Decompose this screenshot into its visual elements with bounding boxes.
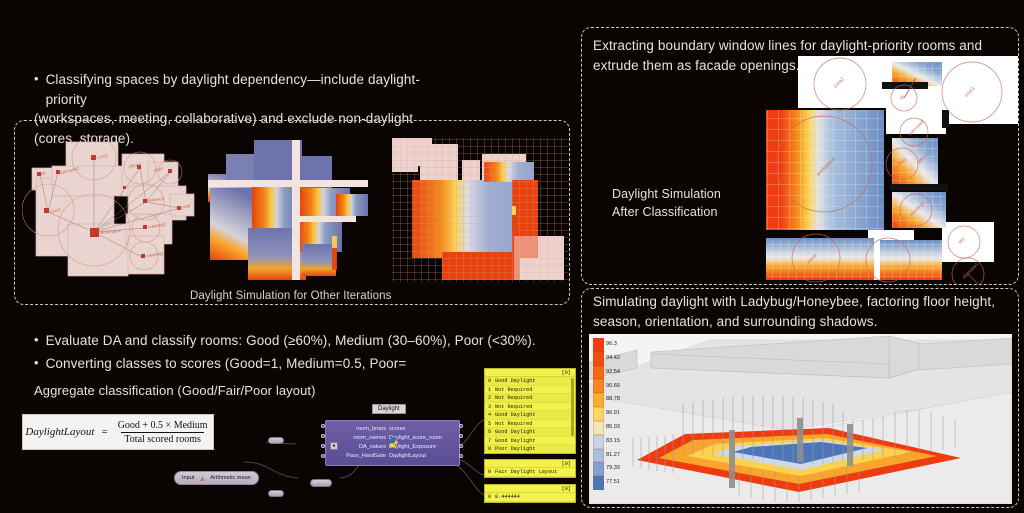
bullet-1-line-1: Classifying spaces by daylight dependenc… (46, 70, 454, 109)
legend-swatch (593, 449, 604, 463)
floorplan-after-classification[interactable]: core2 core1 lift staircase2 office offic… (756, 52, 1018, 284)
legend-swatch (593, 435, 604, 449)
legend-value: 83.15 (606, 435, 620, 449)
bullet-marker-3: • (34, 354, 39, 373)
classification-panel-header: [9] (485, 369, 575, 377)
legend-swatch (593, 338, 604, 352)
score-panel-header: [0] (485, 485, 575, 493)
plan-label-lift: lift (40, 171, 45, 177)
sim-label-line-1: Daylight Simulation (612, 185, 721, 203)
legend-swatch (593, 366, 604, 380)
layout-output-panel[interactable]: [0] 0Fair Daylight Layout (484, 459, 576, 478)
plans-caption: Daylight Simulation for Other Iterations (190, 288, 392, 305)
node-input-2: DA_values (334, 443, 386, 452)
daylight-layout-formula: DaylightLayout = Good + 0.5 × Medium Tot… (22, 414, 214, 450)
aggregate-heading: Aggregate classification (Good/Fair/Poor… (34, 382, 316, 401)
daylight-node[interactable]: room_breps scores room_names Daylight_sc… (325, 420, 460, 466)
python-icon (387, 437, 398, 450)
classification-rows: 0Good Daylight 1Not Required 2Not Requir… (485, 377, 575, 454)
node-output-0: scores (389, 425, 451, 434)
floorplan-topology[interactable]: core2 core1 lift staircase2 office3 offi… (22, 128, 212, 286)
legend-value: 85.03 (606, 421, 620, 435)
legend-value: 94.42 (606, 352, 620, 366)
bottom-caption-line-2: season, orientation, and surrounding sha… (593, 312, 1005, 332)
list-item[interactable]: 3Not Required (485, 403, 575, 412)
layout-panel-header: [0] (485, 460, 575, 468)
bullet-2-text: Evaluate DA and classify rooms: Good (≥6… (46, 331, 536, 351)
legend-labels: 96.3 94.42 92.54 90.66 88.78 86.91 85.03… (606, 338, 620, 490)
list-item[interactable]: 0Fair Daylight Layout (485, 468, 575, 477)
node-output-1: Daylight_score_room (389, 434, 451, 443)
classification-output-panel[interactable]: [9] 0Good Daylight 1Not Required 2Not Re… (484, 368, 576, 454)
legend-swatch (593, 407, 604, 421)
list-item[interactable]: 4Good Daylight (485, 411, 575, 420)
node-input-1: room_names (334, 434, 386, 443)
left-bullet-2: • Evaluate DA and classify rooms: Good (… (34, 331, 554, 373)
legend-value: 88.78 (606, 393, 620, 407)
legend-swatch (593, 379, 604, 393)
node-output-3: DaylightLayout (389, 452, 451, 461)
formula-equals: = (101, 426, 107, 438)
legend-swatch (593, 393, 604, 407)
sim-label-line-2: After Classification (612, 203, 721, 221)
list-item[interactable]: 5Not Required (485, 420, 575, 429)
list-item[interactable]: 1Not Required (485, 386, 575, 395)
bullet-marker: • (34, 70, 39, 89)
legend-value: 92.54 (606, 366, 620, 380)
list-item[interactable]: 6Good Daylight (485, 428, 575, 437)
floorplan-daylight-sim-b[interactable] (386, 132, 568, 284)
right-bottom-caption: Simulating daylight with Ladybug/Honeybe… (593, 292, 1005, 331)
node-port-out-2[interactable] (459, 444, 463, 448)
legend-swatch (593, 352, 604, 366)
legend-swatch (593, 462, 604, 476)
warning-icon: ▲ (198, 474, 206, 483)
list-item[interactable]: 00.444444 (485, 493, 575, 502)
slide-root: • Classifying spaces by daylight depende… (0, 0, 1024, 513)
render-canvas (589, 334, 1012, 504)
node-port-in-0[interactable] (321, 424, 325, 428)
node-output-2: Daylight_Exposure (389, 443, 451, 452)
node-port-in-1[interactable] (321, 434, 325, 438)
legend-value: 79.39 (606, 462, 620, 476)
arithmetic-mean-node[interactable]: Input ▲ Arithmetic mean (174, 471, 259, 485)
legend-value: 81.27 (606, 449, 620, 463)
score-output-panel[interactable]: [0] 00.444444 (484, 484, 576, 503)
formula-numerator: Good + 0.5 × Medium (115, 420, 211, 432)
legend-swatch (593, 421, 604, 435)
legend-value: 86.91 (606, 407, 620, 421)
sim-label: Daylight Simulation After Classification (612, 185, 721, 221)
daylight-legend: 96.3 94.42 92.54 90.66 88.78 86.91 85.03… (593, 338, 620, 490)
arithmetic-node-label: Arithmetic mean (210, 475, 250, 481)
legend-swatch (593, 476, 604, 490)
node-port-out-0[interactable] (459, 424, 463, 428)
floorplan-daylight-sim-a[interactable] (196, 132, 378, 284)
panel-scrollbar[interactable] (571, 378, 574, 436)
wire-pill-3 (310, 479, 332, 487)
legend-value: 77.51 (606, 476, 620, 490)
list-item[interactable]: 8Poor Daylight (485, 445, 575, 454)
daylight-3d-render[interactable]: 96.3 94.42 92.54 90.66 88.78 86.91 85.03… (589, 334, 1012, 504)
formula-denominator: Total scored rooms (121, 432, 204, 445)
bottom-caption-line-1: Simulating daylight with Ladybug/Honeybe… (593, 292, 1005, 312)
bullet-3-text: Converting classes to scores (Good=1, Me… (46, 354, 407, 374)
legend-value: 96.3 (606, 338, 620, 352)
formula-lhs: DaylightLayout (25, 426, 94, 438)
node-port-in-2[interactable] (321, 444, 325, 448)
arithmetic-node-prefix: Input (182, 475, 194, 481)
node-toggle-button[interactable]: ● (330, 442, 338, 450)
legend-value: 90.66 (606, 379, 620, 393)
node-port-in-3[interactable] (321, 454, 325, 458)
daylight-node-title: Daylight (372, 404, 406, 414)
node-input-0: room_breps (334, 425, 386, 434)
node-port-out-1[interactable] (459, 434, 463, 438)
legend-gradient-bar (593, 338, 604, 490)
node-port-out-3[interactable] (459, 454, 463, 458)
list-item[interactable]: 0Good Daylight (485, 377, 575, 386)
list-item[interactable]: 7Good Daylight (485, 437, 575, 446)
node-input-3: Pass_HardGate (334, 452, 386, 461)
bullet-marker-2: • (34, 331, 39, 350)
wire-pill-1 (268, 437, 284, 444)
wire-pill-2 (268, 490, 284, 497)
list-item[interactable]: 2Not Required (485, 394, 575, 403)
